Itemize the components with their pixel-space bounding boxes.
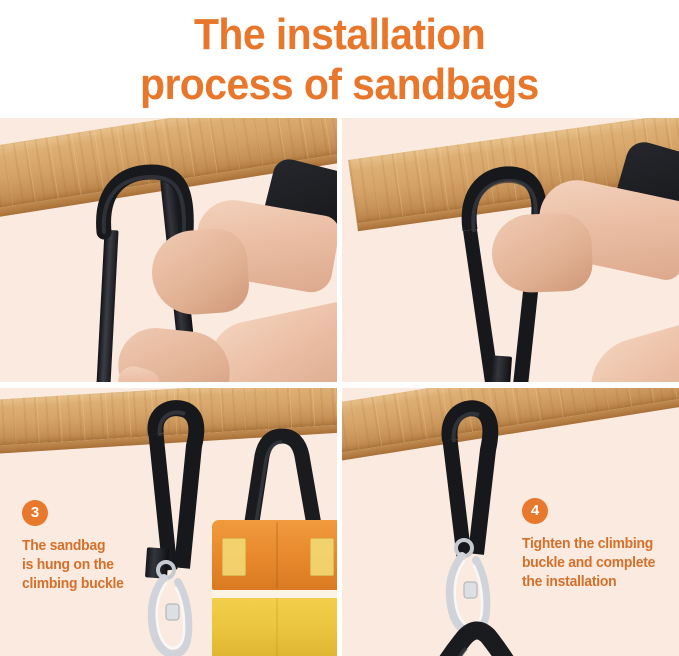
forearm-lower	[579, 318, 679, 382]
steps-grid: 1 Nylon strap wrapped around the crossbe…	[0, 118, 679, 656]
nylon-strap-left-tail	[95, 230, 118, 382]
step-4-line-2: buckle and complete	[522, 554, 655, 573]
bag-handles	[394, 618, 584, 656]
step-1-illustration	[0, 118, 337, 382]
step-panel-3: 3 The sandbag is hung on the climbing bu…	[0, 388, 337, 656]
bag-band	[212, 590, 337, 598]
step-3-badge: 3	[22, 500, 48, 526]
step-4-badge: 4	[522, 498, 548, 524]
bag-body-seam	[276, 598, 278, 656]
step-3-line-2: is hung on the	[22, 556, 124, 575]
bag-seam	[276, 522, 278, 588]
step-4-text: Tighten the climbing buckle and complete…	[522, 535, 655, 592]
step-3-line-3: climbing buckle	[22, 575, 124, 594]
step-3-line-1: The sandbag	[22, 537, 124, 556]
sandbag	[206, 430, 337, 656]
page-title: The installation process of sandbags	[0, 0, 679, 118]
step-4-line-1: Tighten the climbing	[522, 535, 655, 554]
step-3-text: The sandbag is hung on the climbing buck…	[22, 537, 124, 594]
hand-upper	[491, 212, 594, 293]
step-3-caption: 3 The sandbag is hung on the climbing bu…	[22, 500, 128, 594]
hand-right	[149, 227, 251, 317]
bag-tag-left	[222, 538, 246, 576]
carabiner-icon	[140, 556, 210, 656]
step-panel-1: 1 Nylon strap wrapped around the crossbe…	[0, 118, 337, 382]
carabiner-icon	[492, 380, 582, 382]
step-4-line-3: the installation	[522, 573, 655, 592]
title-line-1: The installation	[194, 10, 485, 60]
strap-tail	[488, 355, 512, 382]
bag-body	[212, 598, 337, 656]
title-line-2: process of sandbags	[140, 60, 539, 110]
step-panel-2: 2 Climbing buckle passes through both en…	[342, 118, 679, 382]
bag-tag-right	[310, 538, 334, 576]
step-panel-4: 4 Tighten the climbing buckle and comple…	[342, 388, 679, 656]
step-2-illustration	[342, 118, 679, 382]
step-4-caption: 4 Tighten the climbing buckle and comple…	[522, 498, 661, 592]
